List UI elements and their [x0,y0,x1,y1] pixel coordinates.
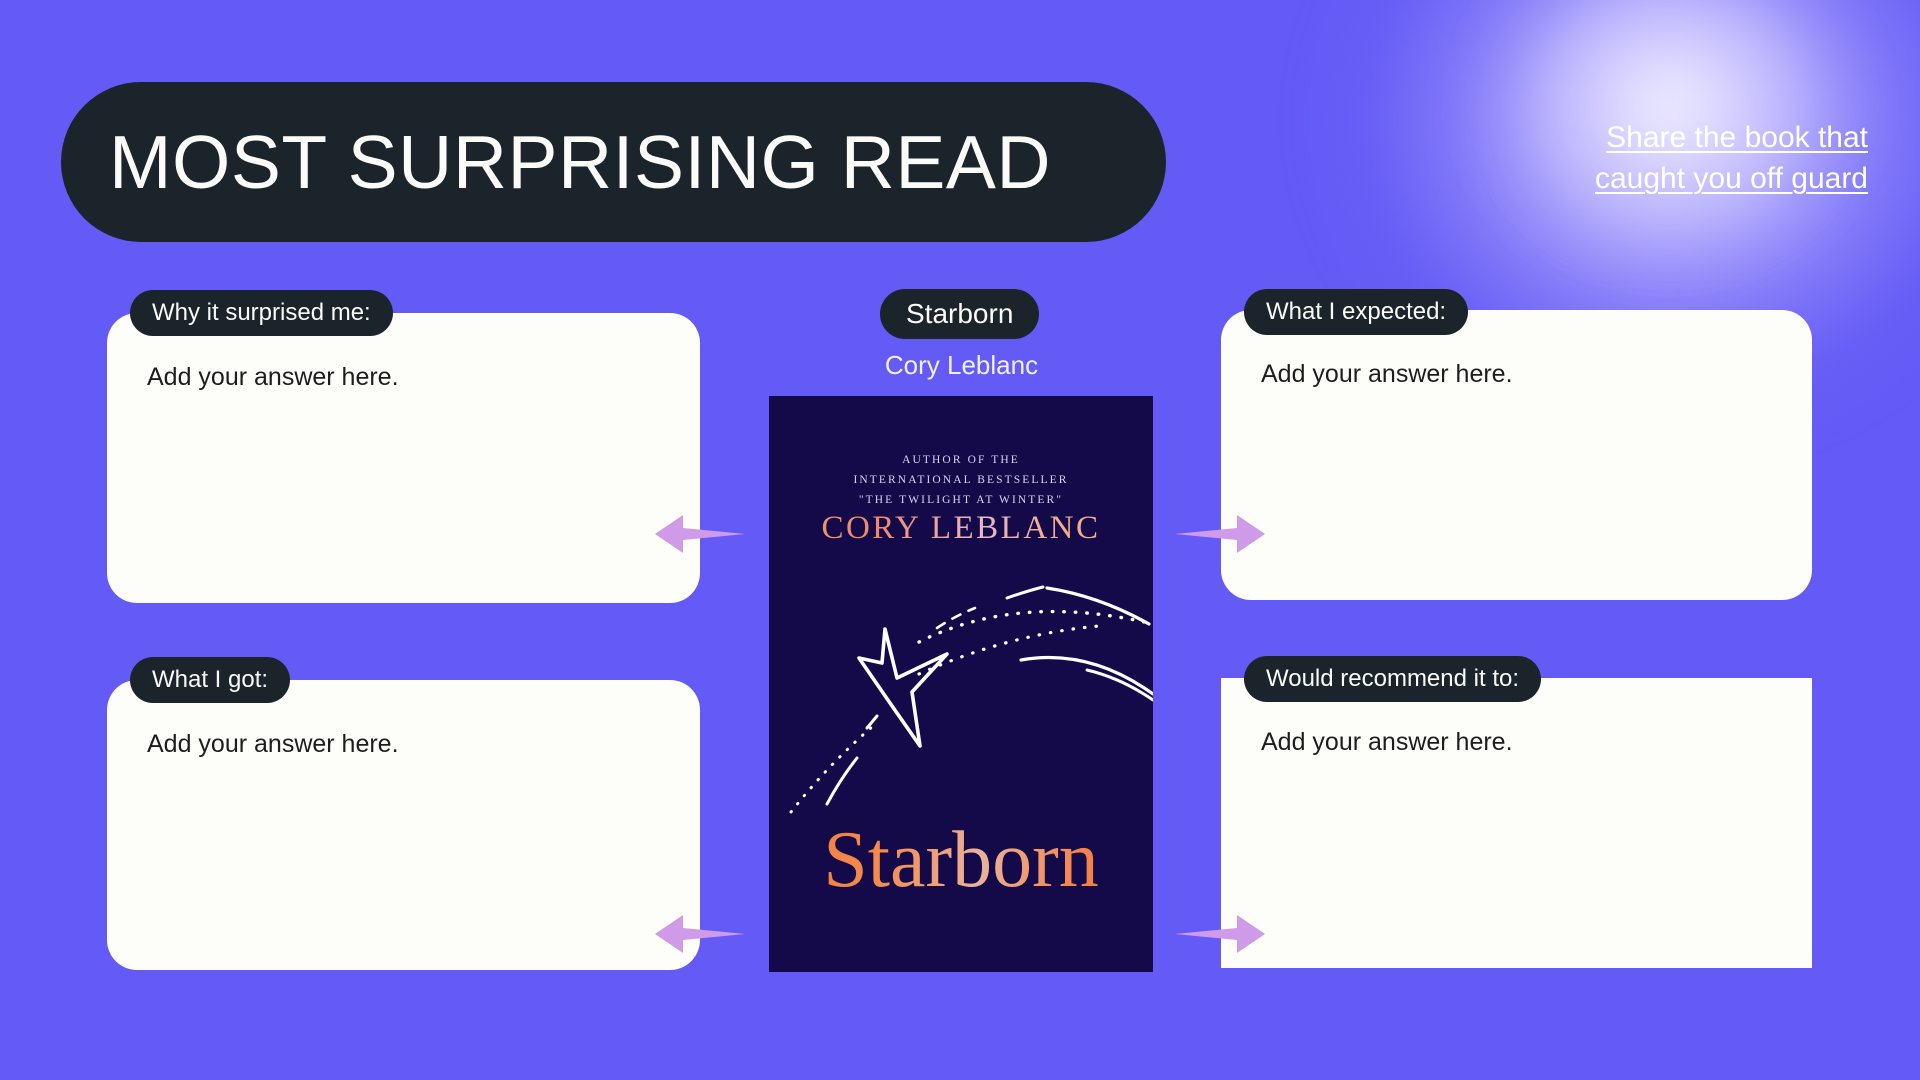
book-cover-image: AUTHOR OF THE INTERNATIONAL BESTSELLER "… [769,396,1153,972]
label-why-it-surprised-me: Why it surprised me: [130,290,393,336]
cover-credit-line-3: "THE TWILIGHT AT WINTER" [769,490,1153,510]
answer-card-why-it-surprised-me[interactable]: Add your answer here. [107,313,700,603]
book-title-pill: Starborn [880,289,1039,339]
subtitle: Share the book that caught you off guard [1468,117,1868,200]
answer-card-what-i-expected[interactable]: Add your answer here. [1221,310,1812,600]
shooting-star-icon [769,566,1153,826]
label-would-recommend-it-to: Would recommend it to: [1244,656,1541,702]
cover-credit-lines: AUTHOR OF THE INTERNATIONAL BESTSELLER "… [769,450,1153,510]
answer-card-would-recommend-it-to[interactable]: Add your answer here. [1221,678,1812,968]
answer-text[interactable]: Add your answer here. [1261,358,1513,391]
arrow-left-icon [653,913,745,960]
book-author: Cory Leblanc [769,350,1154,381]
answer-text[interactable]: Add your answer here. [147,728,399,761]
label-what-i-got: What I got: [130,657,290,703]
page-title: MOST SURPRISING READ [61,125,1051,200]
arrow-right-icon [1175,913,1267,960]
answer-text[interactable]: Add your answer here. [1261,726,1513,759]
answer-card-what-i-got[interactable]: Add your answer here. [107,680,700,970]
cover-author-name: CORY LEBLANC [769,510,1153,547]
cover-book-title: Starborn [769,820,1153,900]
arrow-right-icon [1175,513,1267,560]
page-title-pill: MOST SURPRISING READ [61,82,1166,242]
arrow-left-icon [653,513,745,560]
slide-canvas: MOST SURPRISING READ Share the book that… [0,0,1920,1080]
answer-text[interactable]: Add your answer here. [147,361,399,394]
cover-credit-line-2: INTERNATIONAL BESTSELLER [769,470,1153,490]
subtitle-line-1: Share the book that [1468,117,1868,158]
subtitle-line-2: caught you off guard [1468,158,1868,199]
cover-credit-line-1: AUTHOR OF THE [769,450,1153,470]
label-what-i-expected: What I expected: [1244,289,1468,335]
